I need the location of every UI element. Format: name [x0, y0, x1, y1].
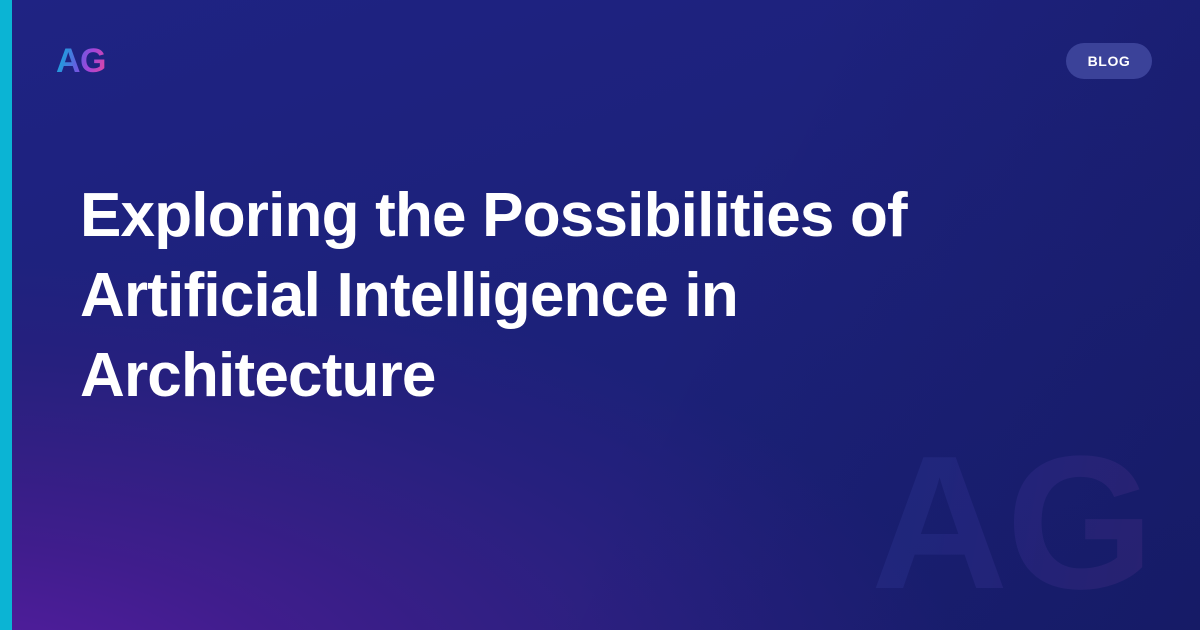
left-accent-bar [0, 0, 12, 630]
card-header: AG BLOG [12, 0, 1200, 122]
brand-logo[interactable]: AG [56, 44, 106, 78]
page-title: Exploring the Possibilities of Artificia… [80, 176, 1055, 416]
status-badge[interactable]: BLOG [1066, 43, 1152, 79]
open-graph-card: AG AG BLOG Exploring the Possibilities o… [0, 0, 1200, 630]
headline-container: Exploring the Possibilities of Artificia… [80, 176, 1080, 416]
